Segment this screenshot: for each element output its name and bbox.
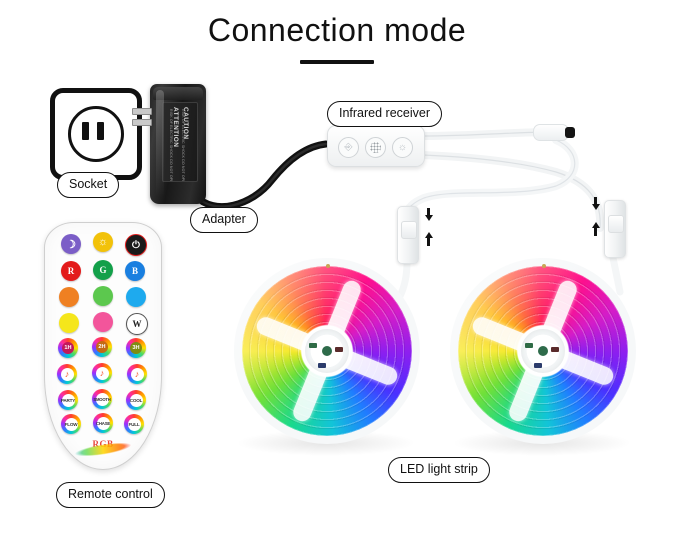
remote-music-mode-3-button[interactable]: ♪: [127, 364, 147, 384]
remote-color-lightgreen-button[interactable]: [93, 286, 113, 306]
adapter-attention-text: ATTENTION: [172, 107, 179, 147]
adapter-highlight: [156, 90, 164, 198]
remote-button-label: CHASE: [97, 417, 110, 430]
adapter-prongs: [132, 106, 152, 128]
remote-button-label: B: [132, 266, 138, 276]
adapter-fine-print: RISK OF ELECTRIC SHOCK DO NOT OPEN: [181, 109, 185, 182]
callout-infrared-receiver: Infrared receiver: [327, 101, 442, 127]
music-note-icon: ♪: [131, 368, 144, 381]
remote-color-cyanblue-button[interactable]: [126, 287, 146, 307]
power-icon: ⏻: [132, 240, 140, 251]
remote-button-label: 1H: [62, 342, 75, 355]
remote-timer-1h-button[interactable]: 1H: [58, 338, 78, 358]
infrared-receiver-graphic: ⎆ ☼: [327, 125, 425, 167]
reel-gloss: [234, 258, 420, 444]
left-connector-down-arrow-icon: [424, 208, 433, 221]
remote-color-green-button[interactable]: G: [93, 260, 113, 280]
remote-button-label: W: [133, 319, 142, 329]
remote-color-orange-button[interactable]: [59, 287, 79, 307]
remote-button-label: SMOOTH: [96, 393, 109, 406]
right-connector-clip: [608, 215, 624, 233]
callout-socket: Socket: [57, 172, 119, 198]
left-strip-connector: [397, 206, 419, 264]
callout-adapter: Adapter: [190, 207, 258, 233]
diagram-canvas: Connection mode Socket: [0, 0, 674, 547]
brightness-icon: ☼: [98, 236, 108, 248]
led-reel-left: [234, 258, 420, 444]
remote-color-pink-button[interactable]: [93, 312, 113, 332]
remote-button-label: FLOW: [65, 418, 78, 431]
adapter-to-receiver-cable: [196, 144, 326, 207]
led-reel-right: [450, 258, 636, 444]
adapter-warning-label: CAUTION ATTENTION RISK OF ELECTRIC SHOCK…: [162, 102, 198, 182]
remote-mode-flow-button[interactable]: FLOW: [61, 414, 81, 434]
adapter-prong-bottom: [132, 119, 152, 126]
remote-color-white-button[interactable]: W: [126, 313, 148, 335]
remote-mode-smooth-button[interactable]: SMOOTH: [92, 389, 112, 409]
remote-mode-party-button[interactable]: PARTY: [58, 390, 78, 410]
remote-button-label: COOL: [130, 394, 143, 407]
remote-button-label: FULL: [128, 418, 141, 431]
callout-remote-control: Remote control: [56, 482, 165, 508]
plug-to-left-connector-cable: [407, 140, 575, 214]
remote-mode-cool-button[interactable]: COOL: [126, 390, 146, 410]
reel-gloss: [450, 258, 636, 444]
cable-plug-body: [533, 124, 569, 141]
remote-brightness-button[interactable]: ☼: [93, 232, 113, 252]
remote-button-label: R: [68, 266, 75, 276]
receiver-ir-sensor-icon: [365, 137, 386, 158]
remote-button-label: 3H: [130, 342, 143, 355]
right-strip-connector: [604, 200, 626, 258]
left-connector-up-arrow-icon: [424, 233, 433, 246]
remote-timer-3h-button[interactable]: 3H: [126, 338, 146, 358]
remote-mode-full-button[interactable]: FULL: [124, 414, 144, 434]
remote-color-red-button[interactable]: R: [61, 261, 81, 281]
remote-power-button[interactable]: ⏻: [125, 234, 147, 256]
cable-plug-tip: [565, 127, 575, 138]
remote-color-yellow-button[interactable]: [59, 313, 79, 333]
remote-button-label: PARTY: [62, 394, 75, 407]
ir-sensor-dots: [370, 142, 381, 153]
receiver-brightness-icon: ☼: [392, 137, 413, 158]
remote-music-mode-1-button[interactable]: ♪: [57, 364, 77, 384]
receiver-power-icon: ⎆: [338, 137, 359, 158]
remote-color-blue-button[interactable]: B: [125, 261, 145, 281]
left-connector-clip: [401, 221, 417, 239]
adapter-prong-top: [132, 108, 152, 115]
remote-timer-2h-button[interactable]: 2H: [92, 337, 112, 357]
music-note-icon: ♪: [61, 368, 74, 381]
moon-icon: ☽: [66, 238, 76, 251]
remote-button-label: G: [99, 265, 106, 275]
right-connector-down-arrow-icon: [591, 197, 600, 210]
remote-dim-button[interactable]: ☽: [61, 234, 81, 254]
remote-music-mode-2-button[interactable]: ♪: [92, 363, 112, 383]
music-note-icon: ♪: [96, 367, 109, 380]
remote-button-label: 2H: [96, 341, 109, 354]
remote-mode-chase-button[interactable]: CHASE: [93, 413, 113, 433]
remote-control-graphic: ☽ ☼ ⏻ R G B W 1H 2H: [44, 222, 162, 470]
adapter-fine-print-2: RISK OF ELECTRIC SHOCK DO NOT OPEN: [169, 109, 173, 182]
callout-led-light-strip: LED light strip: [388, 457, 490, 483]
power-adapter-graphic: CAUTION ATTENTION RISK OF ELECTRIC SHOCK…: [150, 84, 206, 204]
remote-brand-logo: RGB: [66, 434, 140, 458]
right-connector-up-arrow-icon: [591, 223, 600, 236]
adapter-body: CAUTION ATTENTION RISK OF ELECTRIC SHOCK…: [150, 84, 206, 204]
